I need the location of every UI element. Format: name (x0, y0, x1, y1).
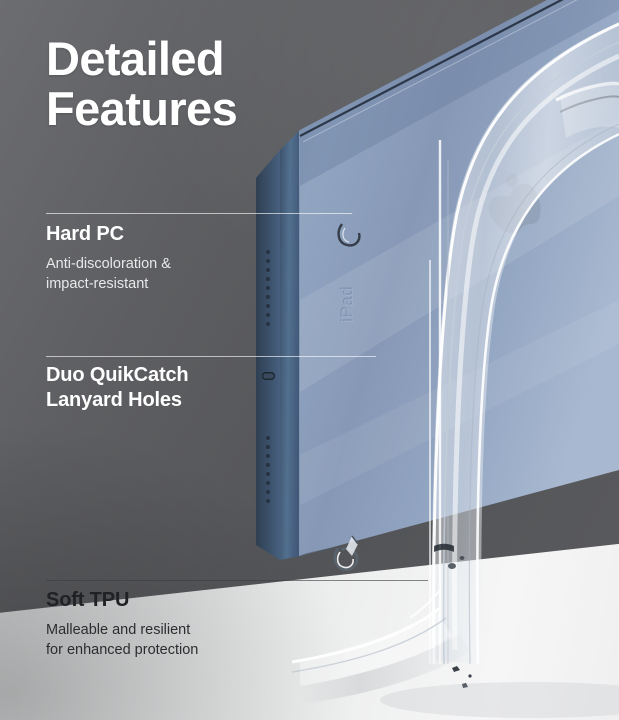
callout-heading-hard-pc: Hard PC (46, 222, 171, 247)
callout-subtext-hard-pc: Anti-discoloration & impact-resistant (46, 254, 171, 295)
callout-soft-tpu: Soft TPU Malleable and resilient for enh… (46, 588, 198, 661)
callout-hard-pc: Hard PC Anti-discoloration & impact-resi… (46, 222, 171, 295)
callout-heading-soft-tpu: Soft TPU (46, 588, 198, 613)
callout-rule-soft-tpu (46, 580, 428, 581)
callout-rule-hard-pc (46, 213, 352, 214)
product-feature-graphic: iPad iPad (0, 0, 619, 720)
callout-rule-lanyard (46, 356, 376, 357)
callout-heading-lanyard: Duo QuikCatch Lanyard Holes (46, 363, 189, 413)
callout-lanyard: Duo QuikCatch Lanyard Holes (46, 363, 189, 413)
callout-subtext-soft-tpu: Malleable and resilient for enhanced pro… (46, 620, 198, 661)
page-title: Detailed Features (46, 34, 237, 135)
